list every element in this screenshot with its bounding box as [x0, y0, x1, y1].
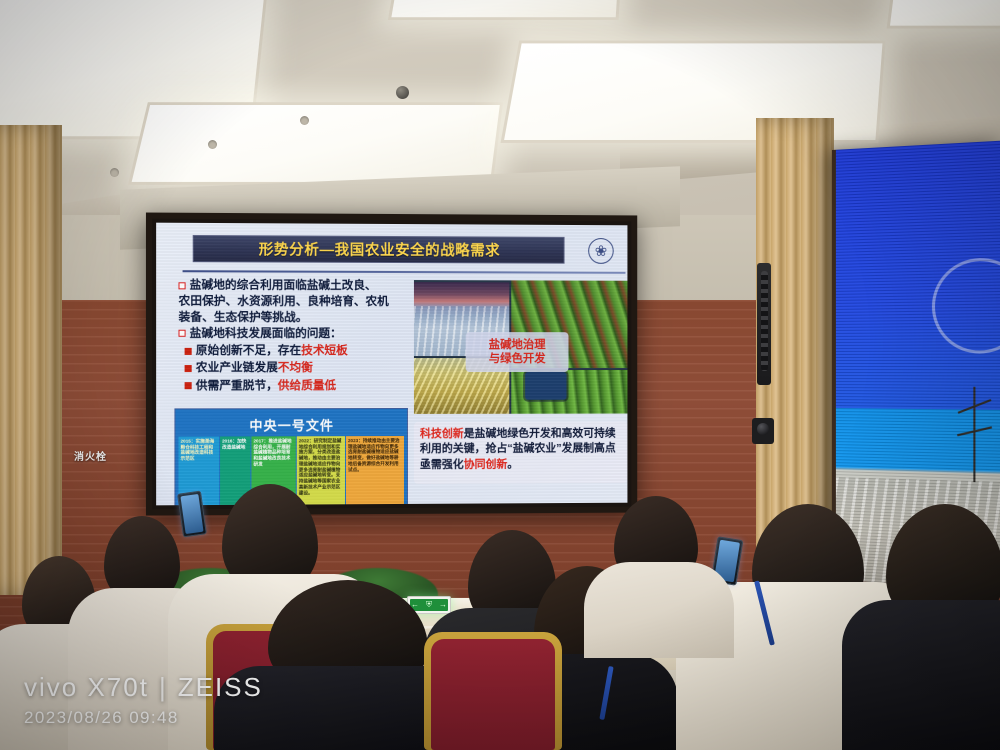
policy-cell-2023: 2023：持续推动由主要治理盐碱地适应作物向更多选育耐盐碱植物适应盐碱地转变，做… — [346, 436, 404, 505]
hollow-square-icon — [178, 330, 185, 337]
running-person-icon: ⛨ — [426, 601, 432, 609]
presentation-slide: 形势分析—我国农业安全的战略需求 ❀ 盐碱地的综合利用面临盐碱土改良、 农田保护… — [156, 223, 627, 506]
policy-cell-2016-text: 2016：加快改造盐碱地 — [222, 438, 248, 450]
flower-emblem-icon: ❀ — [588, 238, 614, 264]
doc-box-title: 中央一号文件 — [175, 409, 407, 435]
slide-title-bar: 形势分析—我国农业安全的战略需求 — [193, 235, 565, 264]
bullet-item-5: 供需严重脱节，供给质量低 — [178, 378, 405, 394]
watermark-lens: ZEISS — [178, 672, 263, 703]
policy-cell-2015-text: 2015：实施渤海粮仓科技工程和盐碱地改造科技示范区 — [181, 439, 218, 462]
solid-square-icon — [185, 382, 192, 389]
policy-cell-2017-text: 2017：推进盐碱地综合利用，开展耐盐碱植物品种培育和盐碱地改良技术研发 — [253, 438, 293, 467]
solid-square-icon — [185, 365, 192, 372]
bullet-2-text: 盐碱地科技发展面临的问题： — [190, 326, 342, 342]
person-shoulders — [584, 562, 734, 658]
curtain-left — [0, 125, 62, 595]
collage-label-line-2: 与绿色开发 — [489, 352, 546, 366]
bullet-item-1: 盐碱地的综合利用面临盐碱土改良、 — [178, 277, 405, 293]
ceiling-sensor-1 — [208, 140, 217, 149]
bullet-1-line-1: 盐碱地的综合利用面临盐碱土改良、 — [190, 277, 377, 293]
slide-bullet-list: 盐碱地的综合利用面临盐碱土改良、 农田保护、水资源利用、良种培育、农机 装备、生… — [178, 277, 405, 394]
slide-title: 形势分析—我国农业安全的战略需求 — [259, 238, 501, 260]
callout-text: 科技创新是盐碱地绿色开发和高效可持续利用的关键，抢占“盐碱农业”发展制高点亟需强… — [420, 426, 622, 473]
collage-label: 盐碱地治理 与绿色开发 — [466, 332, 569, 372]
ceiling-light-panel-3 — [128, 102, 503, 185]
hollow-square-icon — [178, 282, 185, 289]
ptz-camera — [752, 418, 774, 444]
person-shoulders — [842, 600, 1000, 750]
watermark-timestamp: 2023/08/26 09:48 — [24, 708, 179, 728]
photo-collage: 盐碱地治理 与绿色开发 — [414, 280, 627, 414]
ceiling-sensor-3 — [110, 168, 119, 177]
chair-cushion — [431, 639, 555, 750]
banquet-chair-2 — [424, 632, 562, 750]
bullet-4-text: 农业产业链发展不均衡 — [196, 360, 313, 375]
policy-cell-2022: 2022：研究制定盐碱地综合利用规划和实施方案，分类改造盐碱地，推动由主要治理盐… — [297, 436, 345, 505]
solid-square-icon — [185, 348, 192, 355]
column-speaker — [757, 263, 771, 385]
bullet-1-line-2: 农田保护、水资源利用、良种培育、农机 — [178, 294, 405, 310]
projection-screen[interactable]: 形势分析—我国农业安全的战略需求 ❀ 盐碱地的综合利用面临盐碱土改良、 农田保护… — [146, 213, 637, 516]
policy-cell-2022-text: 2022：研究制定盐碱地综合利用规划和实施方案，分类改造盐碱地，推动由主要治理盐… — [299, 438, 343, 496]
bullet-item-3: 原始创新不足，存在技术短板 — [178, 343, 405, 358]
bullet-5-text: 供需严重脱节，供给质量低 — [196, 378, 336, 393]
exit-sign-inner: ← ⛨ → — [410, 599, 448, 611]
bullet-item-2: 盐碱地科技发展面临的问题： — [178, 326, 405, 342]
ceiling-camera — [396, 86, 409, 99]
bullet-1-line-3: 装备、生态保护等挑战。 — [178, 309, 405, 325]
key-message-callout: 科技创新是盐碱地绿色开发和高效可持续利用的关键，抢占“盐碱农业”发展制高点亟需强… — [414, 421, 627, 483]
slide-divider — [183, 270, 626, 273]
phone-screen — [180, 494, 203, 534]
conference-room-photo: 消火栓 形势分析—我国农业安全的战略需求 ❀ 盐碱地的综合利用面临盐碱土改良、 … — [0, 0, 1000, 750]
ceiling-light-panel-5 — [887, 0, 1000, 29]
policy-cell-2023-text: 2023：持续推动由主要治理盐碱地适应作物向更多选育耐盐碱植物适应盐碱地转变，做… — [348, 438, 402, 473]
fire-hydrant-sign: 消火栓 — [74, 448, 122, 462]
arrow-right-icon: → — [439, 601, 447, 609]
bullet-item-4: 农业产业链发展不均衡 — [178, 360, 405, 375]
watermark-separator: | — [159, 672, 168, 703]
camera-watermark: vivo X70t | ZEISS — [24, 672, 263, 703]
bullet-3-text: 原始创新不足，存在技术短板 — [196, 343, 348, 358]
photo-tractor-spraying-field — [511, 370, 627, 414]
ceiling-sensor-2 — [300, 116, 309, 125]
watermark-brand: vivo X70t — [24, 672, 149, 703]
ceiling-light-panel-2 — [388, 0, 621, 20]
collage-label-line-1: 盐碱地治理 — [489, 338, 546, 352]
